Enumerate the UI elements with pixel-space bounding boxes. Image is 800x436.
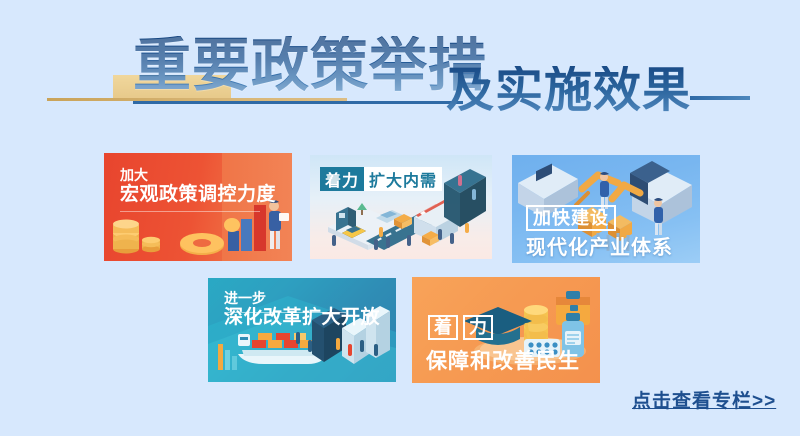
page-title-main: 重要政策举措 bbox=[133, 36, 487, 94]
card1-line2: 宏观政策调控力度 bbox=[120, 184, 276, 206]
policy-card-modern-industry[interactable]: 加快建设 现代化产业体系 bbox=[512, 155, 700, 263]
view-column-link[interactable]: 点击查看专栏>> bbox=[632, 386, 776, 413]
title-underline bbox=[133, 101, 463, 104]
card5-box-char-2: 力 bbox=[463, 315, 493, 340]
card3-line2: 现代化产业体系 bbox=[526, 231, 673, 260]
policy-card-reform-opening[interactable]: 进一步 深化改革扩大开放 bbox=[208, 278, 396, 382]
card5-tag: 着 力 bbox=[428, 315, 493, 340]
card1-text: 加大 宏观政策调控力度 bbox=[120, 167, 276, 206]
card5-box-char-1: 着 bbox=[428, 315, 458, 340]
card2-tag-primary: 着力 bbox=[320, 167, 364, 191]
card2-tag-secondary: 扩大内需 bbox=[364, 167, 442, 191]
card4-text: 进一步 深化改革扩大开放 bbox=[224, 290, 380, 329]
card1-divider bbox=[120, 211, 260, 212]
policy-card-expand-demand[interactable]: 着力 扩大内需 bbox=[310, 155, 492, 259]
card3-line1: 加快建设 bbox=[526, 205, 616, 231]
title-blue-rule bbox=[690, 96, 750, 100]
card5-line2: 保障和改善民生 bbox=[426, 345, 580, 375]
card1-line1: 加大 bbox=[120, 167, 276, 184]
policy-card-macro-regulation[interactable]: 加大 宏观政策调控力度 bbox=[104, 153, 292, 261]
card4-line2: 深化改革扩大开放 bbox=[224, 307, 380, 329]
policy-card-livelihood[interactable]: 着 力 保障和改善民生 bbox=[412, 277, 600, 383]
card4-line1: 进一步 bbox=[224, 290, 380, 307]
page-header: 重要政策举措 及实施效果 bbox=[0, 0, 800, 140]
page-title-sub: 及实施效果 bbox=[446, 66, 691, 114]
page-root: 重要政策举措 及实施效果 bbox=[0, 0, 800, 436]
card2-tag: 着力 扩大内需 bbox=[320, 167, 442, 191]
